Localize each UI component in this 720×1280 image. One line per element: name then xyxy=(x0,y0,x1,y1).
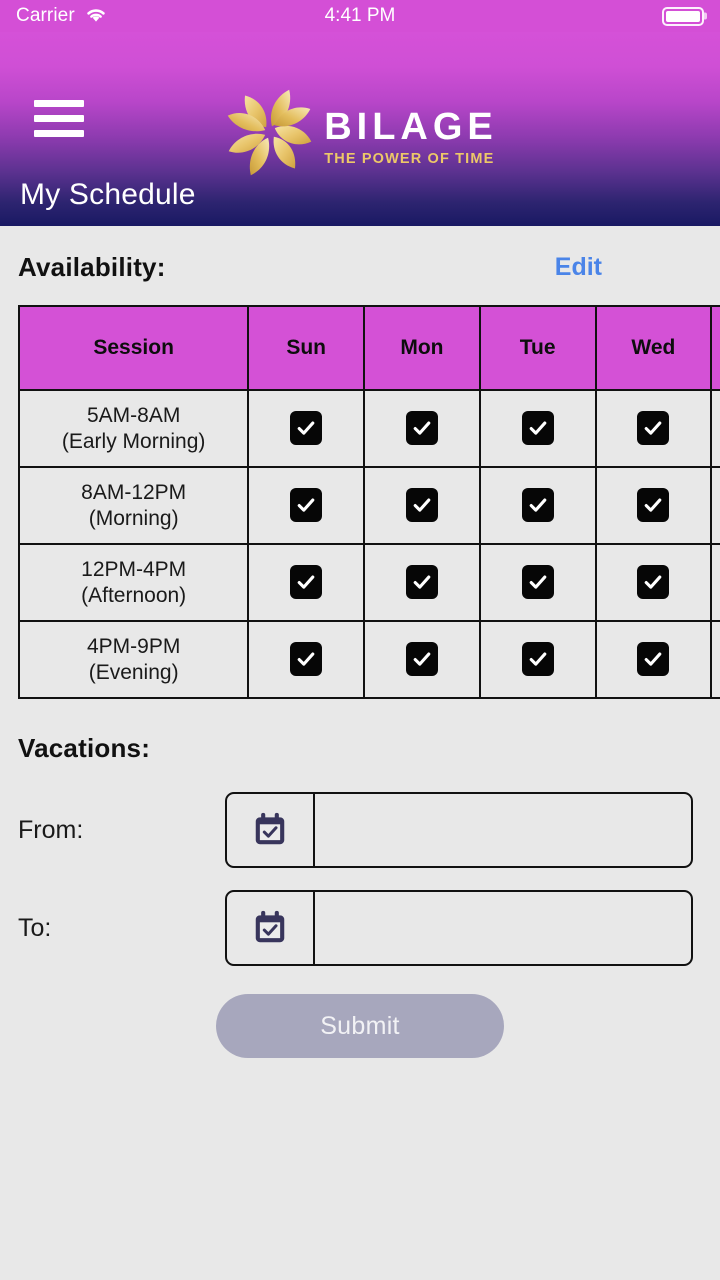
vacation-from-row: From: xyxy=(18,792,702,868)
availability-cell xyxy=(480,390,596,467)
availability-checkbox[interactable] xyxy=(522,488,554,522)
session-name: (Early Morning) xyxy=(26,429,241,455)
calendar-check-icon[interactable] xyxy=(227,892,315,964)
table-row: 4PM-9PM(Evening) xyxy=(19,621,720,698)
session-name: (Evening) xyxy=(26,660,241,686)
availability-checkbox[interactable] xyxy=(637,642,669,676)
availability-checkbox[interactable] xyxy=(406,642,438,676)
column-header-sun: Sun xyxy=(248,306,364,390)
availability-checkbox[interactable] xyxy=(290,488,322,522)
vacation-to-label: To: xyxy=(18,914,225,943)
column-header-tue: Tue xyxy=(480,306,596,390)
availability-checkbox[interactable] xyxy=(290,565,322,599)
table-row: 12PM-4PM(Afternoon) xyxy=(19,544,720,621)
availability-checkbox[interactable] xyxy=(522,642,554,676)
availability-cell xyxy=(364,621,480,698)
battery-full-icon xyxy=(662,7,704,26)
availability-cell xyxy=(364,390,480,467)
submit-row: Submit xyxy=(18,994,702,1058)
hamburger-bar xyxy=(34,100,84,107)
availability-table: Session Sun Mon Tue Wed Thu 5AM-8AM(Earl… xyxy=(18,305,720,699)
vacation-from-label: From: xyxy=(18,816,225,845)
column-header-thu: Thu xyxy=(711,306,720,390)
session-cell: 4PM-9PM(Evening) xyxy=(19,621,248,698)
status-bar: Carrier 4:41 PM xyxy=(0,0,720,32)
vacation-to-row: To: xyxy=(18,890,702,966)
availability-cell xyxy=(596,544,712,621)
column-header-wed: Wed xyxy=(596,306,712,390)
table-header-row: Session Sun Mon Tue Wed Thu xyxy=(19,306,720,390)
table-row: 8AM-12PM(Morning) xyxy=(19,467,720,544)
brand-logo: BILAGE THE POWER OF TIME xyxy=(0,84,720,185)
calendar-check-icon[interactable] xyxy=(227,794,315,866)
availability-cell xyxy=(596,467,712,544)
hamburger-bar xyxy=(34,115,84,122)
availability-cell xyxy=(364,544,480,621)
availability-cell xyxy=(248,621,364,698)
column-header-mon: Mon xyxy=(364,306,480,390)
status-bar-time: 4:41 PM xyxy=(0,5,720,27)
availability-checkbox[interactable] xyxy=(406,488,438,522)
status-bar-right xyxy=(662,7,704,26)
column-header-session: Session xyxy=(19,306,248,390)
app-header: BILAGE THE POWER OF TIME My Schedule xyxy=(0,32,720,226)
hamburger-bar xyxy=(34,130,84,137)
vacation-to-input[interactable] xyxy=(315,892,691,964)
availability-cell xyxy=(596,621,712,698)
edit-availability-button[interactable]: Edit xyxy=(555,253,602,282)
page-title: My Schedule xyxy=(20,178,196,212)
vacation-to-field[interactable] xyxy=(225,890,693,966)
availability-cell xyxy=(364,467,480,544)
availability-checkbox[interactable] xyxy=(522,565,554,599)
availability-cell xyxy=(480,467,596,544)
availability-cell xyxy=(711,621,720,698)
table-row: 5AM-8AM(Early Morning) xyxy=(19,390,720,467)
status-bar-left: Carrier xyxy=(16,5,108,28)
availability-table-body: 5AM-8AM(Early Morning)8AM-12PM(Morning)1… xyxy=(19,390,720,698)
session-cell: 12PM-4PM(Afternoon) xyxy=(19,544,248,621)
session-time: 12PM-4PM xyxy=(26,557,241,583)
availability-section-header: Availability: Edit xyxy=(18,226,702,283)
availability-checkbox[interactable] xyxy=(290,411,322,445)
session-time: 4PM-9PM xyxy=(26,634,241,660)
submit-button[interactable]: Submit xyxy=(216,994,504,1058)
availability-cell xyxy=(480,544,596,621)
session-cell: 5AM-8AM(Early Morning) xyxy=(19,390,248,467)
session-name: (Afternoon) xyxy=(26,583,241,609)
availability-checkbox[interactable] xyxy=(637,565,669,599)
brand-tagline: THE POWER OF TIME xyxy=(324,152,494,167)
session-name: (Morning) xyxy=(26,506,241,532)
availability-cell xyxy=(711,544,720,621)
availability-checkbox[interactable] xyxy=(637,411,669,445)
vacation-from-input[interactable] xyxy=(315,794,691,866)
bilage-flower-logo-icon xyxy=(222,84,318,185)
availability-cell xyxy=(711,390,720,467)
vacation-from-field[interactable] xyxy=(225,792,693,868)
availability-checkbox[interactable] xyxy=(406,565,438,599)
battery-fill xyxy=(666,11,700,22)
availability-title: Availability: xyxy=(18,252,166,283)
carrier-label: Carrier xyxy=(16,5,75,27)
availability-table-scroll[interactable]: Session Sun Mon Tue Wed Thu 5AM-8AM(Earl… xyxy=(18,305,720,699)
brand-name: BILAGE xyxy=(324,108,498,146)
session-cell: 8AM-12PM(Morning) xyxy=(19,467,248,544)
availability-cell xyxy=(711,467,720,544)
session-time: 8AM-12PM xyxy=(26,480,241,506)
availability-checkbox[interactable] xyxy=(406,411,438,445)
vacations-title: Vacations: xyxy=(18,733,702,764)
hamburger-menu-icon[interactable] xyxy=(34,100,84,137)
brand-text: BILAGE THE POWER OF TIME xyxy=(324,102,498,167)
availability-checkbox[interactable] xyxy=(290,642,322,676)
availability-cell xyxy=(480,621,596,698)
session-time: 5AM-8AM xyxy=(26,403,241,429)
wifi-icon xyxy=(84,5,108,28)
availability-checkbox[interactable] xyxy=(637,488,669,522)
availability-cell xyxy=(248,544,364,621)
content-area: Availability: Edit Session Sun Mon Tue W… xyxy=(0,226,720,1280)
availability-cell xyxy=(248,467,364,544)
availability-cell xyxy=(596,390,712,467)
availability-cell xyxy=(248,390,364,467)
availability-checkbox[interactable] xyxy=(522,411,554,445)
